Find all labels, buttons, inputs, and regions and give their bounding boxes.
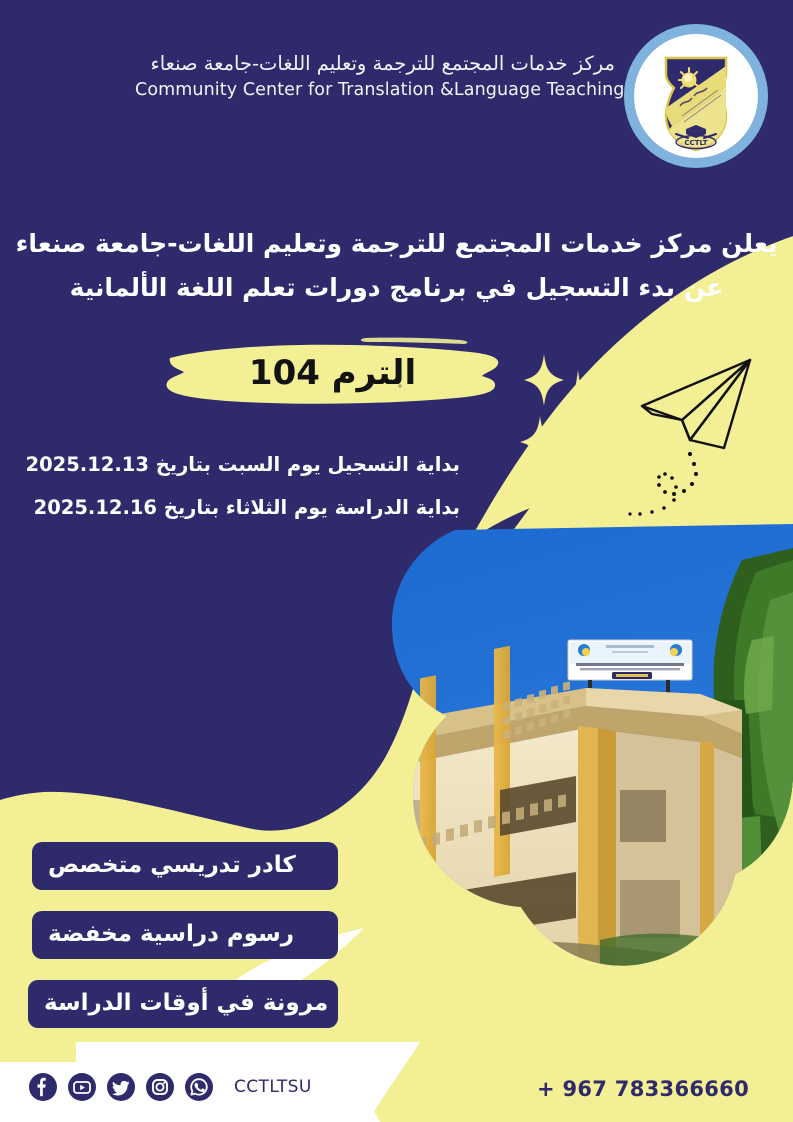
sparkle-icon-small-bottom: [520, 416, 560, 466]
feature-pill-list: كادر تدريسي متخصص رسوم دراسية مخفضة مرون…: [28, 842, 338, 1049]
cctlt-shield-logo: CCTLT: [622, 22, 770, 170]
feature-pill-1: كادر تدريسي متخصص: [32, 842, 338, 890]
sparkle-icon-large: [548, 370, 608, 464]
term-badge-label: الترم 104: [160, 336, 505, 414]
sparkle-icon-small-top: [524, 354, 564, 406]
paper-plane-icon: [628, 350, 778, 525]
headline: يعلن مركز خدمات المجتمع للترجمة وتعليم ا…: [0, 222, 793, 310]
header-title-english: Community Center for Translation &Langua…: [135, 79, 615, 101]
registration-date: بداية التسجيل يوم السبت بتاريخ 2025.12.1…: [26, 444, 460, 487]
facebook-icon[interactable]: [28, 1072, 58, 1102]
twitter-icon[interactable]: [106, 1072, 136, 1102]
youtube-icon[interactable]: [67, 1072, 97, 1102]
header: مركز خدمات المجتمع للترجمة وتعليم اللغات…: [0, 0, 793, 165]
study-start-date: بداية الدراسة يوم الثلاثاء بتاريخ 2025.1…: [26, 487, 460, 530]
phone-number: + 967 783366660: [537, 1077, 749, 1101]
sparkle-icon-group: [500, 352, 610, 467]
dates-block: بداية التسجيل يوم السبت بتاريخ 2025.12.1…: [26, 444, 460, 529]
term-badge: الترم 104: [160, 336, 505, 414]
header-title-block: مركز خدمات المجتمع للترجمة وتعليم اللغات…: [135, 52, 615, 101]
social-links: CCTLTSU: [28, 1072, 312, 1102]
feature-pill-2: رسوم دراسية مخفضة: [32, 911, 338, 959]
footer: CCTLTSU + 967 783366660: [0, 1052, 793, 1122]
instagram-icon[interactable]: [145, 1072, 175, 1102]
header-title-arabic: مركز خدمات المجتمع للترجمة وتعليم اللغات…: [135, 52, 615, 77]
poster-root: مركز خدمات المجتمع للترجمة وتعليم اللغات…: [0, 0, 793, 1122]
whatsapp-icon[interactable]: [184, 1072, 214, 1102]
social-handle: CCTLTSU: [234, 1077, 312, 1097]
feature-pill-3: مرونة في أوقات الدراسة: [28, 980, 338, 1028]
headline-line-1: يعلن مركز خدمات المجتمع للترجمة وتعليم ا…: [0, 222, 793, 266]
paper-plane-trail: [628, 452, 698, 516]
logo-monogram: CCTLT: [684, 139, 707, 147]
headline-line-2: عن بدء التسجيل في برنامج دورات تعلم اللغ…: [0, 266, 793, 310]
